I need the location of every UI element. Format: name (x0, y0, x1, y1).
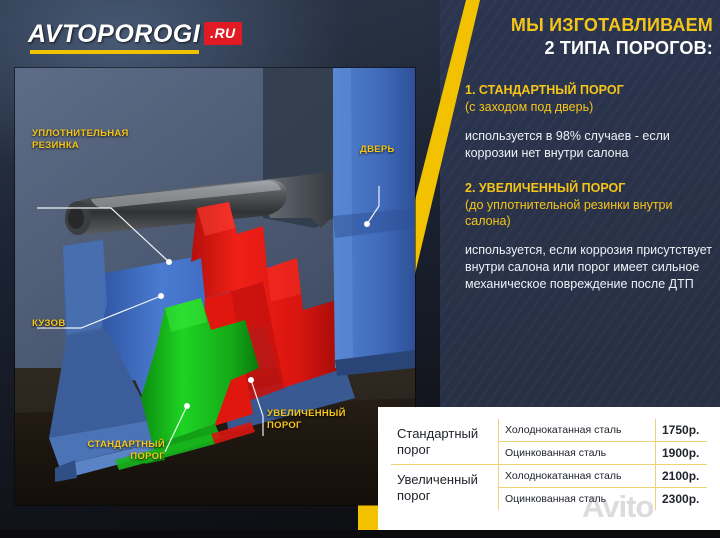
cell-steel: Холоднокатанная сталь (499, 465, 656, 488)
price-panel: Стандартный порог Холоднокатанная сталь … (378, 407, 720, 538)
label-door-text: ДВЕРЬ (360, 144, 395, 155)
logo-wordmark: AVTOPOROGI (28, 20, 200, 55)
enlarged-block-subtitle: (до уплотнительной резинки внутри салона… (465, 197, 713, 229)
screenshot-canvas: AVTOPOROGI .RU (0, 0, 720, 538)
standard-block-subtitle: (с заходом под дверь) (465, 99, 713, 115)
label-enlarged-line2: ПОРОГ (267, 420, 302, 431)
cell-steel: Оцинкованная сталь (499, 488, 656, 511)
sill-type-block-enlarged: 2. УВЕЛИЧЕННЫЙ ПОРОГ (до уплотнительной … (465, 180, 713, 293)
cell-steel: Оцинкованная сталь (499, 442, 656, 465)
label-standard-sill: СТАНДАРТНЫЙ ПОРОГ (71, 439, 165, 463)
headline-line2: 2 ТИПА ПОРОГОВ: (465, 37, 713, 60)
site-logo[interactable]: AVTOPOROGI .RU (28, 20, 242, 55)
headline-line1: МЫ ИЗГОТАВЛИВАЕМ (465, 14, 713, 37)
enlarged-block-body: используется, если коррозия присутствует… (465, 242, 713, 293)
cell-price: 1900р. (656, 442, 708, 465)
table-row: Увеличенный порог Холоднокатанная сталь … (391, 465, 708, 488)
label-enlarged-line1: УВЕЛИЧЕННЫЙ (267, 408, 346, 419)
label-body: КУЗОВ (32, 318, 66, 330)
label-enlarged-sill: УВЕЛИЧЕННЫЙ ПОРОГ (267, 408, 346, 432)
price-table: Стандартный порог Холоднокатанная сталь … (390, 418, 708, 511)
cell-type-enlarged: Увеличенный порог (391, 465, 499, 511)
enlarged-block-title: 2. УВЕЛИЧЕННЫЙ ПОРОГ (465, 180, 713, 197)
label-seal-line1: УПЛОТНИТЕЛЬНАЯ (32, 128, 129, 139)
label-seal-line2: РЕЗИНКА (32, 140, 79, 151)
table-row: Стандартный порог Холоднокатанная сталь … (391, 419, 708, 442)
label-body-text: КУЗОВ (32, 318, 66, 329)
bottom-band (0, 530, 720, 538)
cell-price: 1750р. (656, 419, 708, 442)
label-standard-line1: СТАНДАРТНЫЙ (88, 439, 165, 450)
sill-type-block-standard: 1. СТАНДАРТНЫЙ ПОРОГ (с заходом под двер… (465, 82, 713, 162)
headline: МЫ ИЗГОТАВЛИВАЕМ 2 ТИПА ПОРОГОВ: (465, 14, 713, 60)
standard-block-title: 1. СТАНДАРТНЫЙ ПОРОГ (465, 82, 713, 99)
label-door: ДВЕРЬ (360, 144, 395, 156)
cell-price: 2300р. (656, 488, 708, 511)
right-content-column: МЫ ИЗГОТАВЛИВАЕМ 2 ТИПА ПОРОГОВ: 1. СТАН… (465, 14, 713, 311)
logo-tld-badge: .RU (204, 22, 242, 45)
cell-steel: Холоднокатанная сталь (499, 419, 656, 442)
label-standard-line2: ПОРОГ (130, 451, 165, 462)
cell-price: 2100р. (656, 465, 708, 488)
standard-block-body: используется в 98% случаев - если корроз… (465, 128, 713, 162)
sill-cross-section-diagram: УПЛОТНИТЕЛЬНАЯ РЕЗИНКА КУЗОВ ДВЕРЬ СТАНД… (15, 68, 415, 505)
cell-type-standard: Стандартный порог (391, 419, 499, 465)
label-seal: УПЛОТНИТЕЛЬНАЯ РЕЗИНКА (32, 128, 129, 152)
